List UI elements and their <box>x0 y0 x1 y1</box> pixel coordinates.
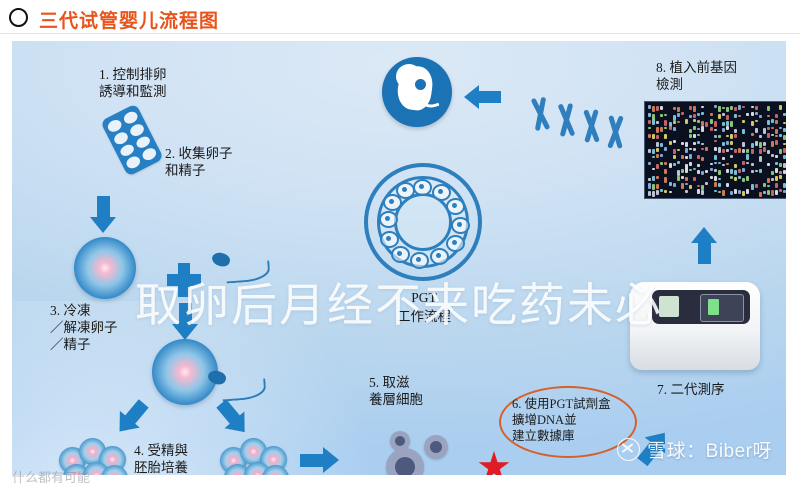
step-1-label: 1. 控制排卵 誘導和監測 <box>99 66 167 100</box>
arrow-up-icon <box>691 227 718 267</box>
circle-outline-icon <box>9 8 28 27</box>
watermark: 雪球：Biber呀 <box>617 436 772 463</box>
pill-blister-icon <box>100 103 164 176</box>
bottom-caption: 什么都有可能 <box>12 467 90 486</box>
embryo-cluster-icon <box>220 438 286 475</box>
xueqiu-logo-icon <box>617 438 640 461</box>
red-star-icon <box>478 451 510 475</box>
step-2-label: 2. 收集卵子 和精子 <box>165 145 233 179</box>
chromosome-icon <box>603 115 626 150</box>
chromosome-icon <box>554 102 578 137</box>
sperm-icon <box>208 371 270 401</box>
arrow-diagonal-right-icon <box>211 395 256 441</box>
arrow-diagonal-left-icon <box>109 395 154 441</box>
step-4-label: 4. 受精與 胚胎培養 <box>134 442 188 475</box>
chromosome-icon <box>579 109 602 144</box>
arrow-right-icon <box>300 447 340 474</box>
step-6-label: 6. 使用PGT試劑盒 擴增DNA並 建立數據庫 <box>512 396 611 444</box>
infographic-image: 1. 控制排卵 誘導和監測 3. 冷凍 ／解凍卵子 ／精子 2. 收集卵子 和精… <box>12 41 786 475</box>
chromosome-icon <box>527 96 554 133</box>
arrow-left-icon <box>464 85 504 109</box>
watermark-text: 雪球：Biber呀 <box>647 436 772 463</box>
page-header: 三代试管婴儿流程图 <box>0 0 800 35</box>
trophectoderm-cells-icon <box>386 448 424 475</box>
page-title: 三代试管婴儿流程图 <box>39 6 219 33</box>
screenshot-root: 三代试管婴儿流程图 1. 控制排卵 誘導和監測 3. 冷凍 ／解凍卵子 ／精子 … <box>0 0 800 482</box>
step-7-label: 7. 二代測序 <box>657 381 725 398</box>
dna-gel-icon <box>644 101 786 199</box>
blastocyst-icon <box>364 163 482 281</box>
arrow-down-icon <box>90 196 117 234</box>
overlay-caption: 取卵后月经不来吃药未必 <box>12 269 786 335</box>
trophectoderm-cells-icon <box>424 435 448 459</box>
header-divider <box>0 33 800 34</box>
step-5-label: 5. 取滋 養層細胞 <box>369 374 423 408</box>
step-8-label: 8. 植入前基因 檢測 <box>656 59 737 93</box>
fetus-badge-icon <box>382 57 452 127</box>
